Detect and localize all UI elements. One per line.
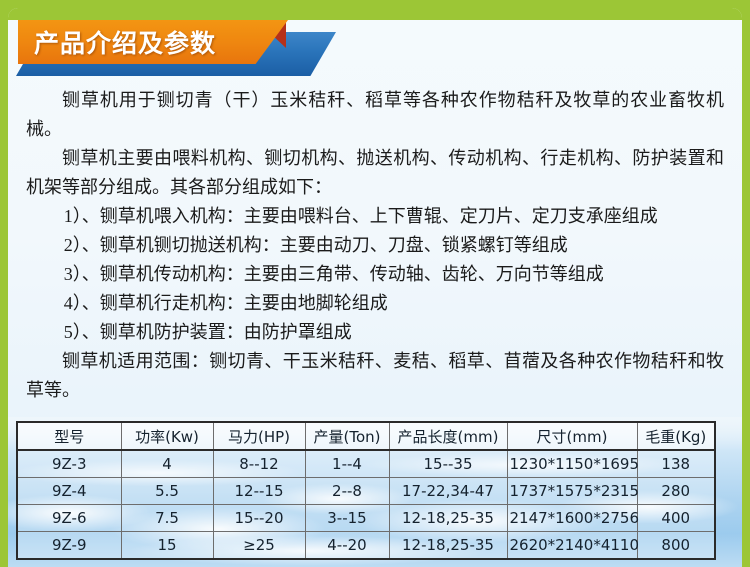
cell-product-length: 12-18,25-35: [389, 532, 507, 560]
cell-model: 9Z-6: [17, 505, 121, 532]
product-info-page: 产品介绍及参数 铡草机用于铡切青（干）玉米秸秆、稻草等各种农作物秸秆及牧草的农业…: [0, 0, 750, 567]
cell-product-length: 17-22,34-47: [389, 478, 507, 505]
cell-model: 9Z-3: [17, 450, 121, 478]
cell-model: 9Z-4: [17, 478, 121, 505]
component-list-item-1: 1）、铡草机喂入机构：主要由喂料台、上下曹辊、定刀片、定刀支承座组成: [26, 202, 724, 231]
table-row: 9Z-3 4 8--12 1--4 15--35 1230*1150*1695 …: [17, 450, 715, 478]
cell-gross-weight: 280: [637, 478, 715, 505]
cell-gross-weight: 138: [637, 450, 715, 478]
table-header-row: 型号 功率(Kw) 马力(HP) 产量(Ton) 产品长度(mm) 尺寸(mm)…: [17, 422, 715, 450]
description-paragraph-2: 铡草机主要由喂料机构、铡切机构、抛送机构、传动机构、行走机构、防护装置和机架等部…: [26, 144, 724, 202]
component-list-item-2: 2）、铡草机铡切抛送机构：主要由动刀、刀盘、锁紧螺钉等组成: [26, 231, 724, 260]
column-header-model: 型号: [17, 422, 121, 450]
cell-output: 4--20: [305, 532, 389, 560]
column-header-power-kw: 功率(Kw): [121, 422, 213, 450]
product-description: 铡草机用于铡切青（干）玉米秸秆、稻草等各种农作物秸秆及牧草的农业畜牧机械。 铡草…: [8, 74, 742, 405]
table-row: 9Z-6 7.5 15--20 3--15 12-18,25-35 2147*1…: [17, 505, 715, 532]
component-list-item-4: 4）、铡草机行走机构：主要由地脚轮组成: [26, 289, 724, 318]
cell-horsepower: 8--12: [213, 450, 305, 478]
column-header-dimensions: 尺寸(mm): [507, 422, 637, 450]
cell-product-length: 15--35: [389, 450, 507, 478]
component-list-item-3: 3）、铡草机传动机构：主要由三角带、传动轴、齿轮、万向节等组成: [26, 260, 724, 289]
cell-dimensions: 1230*1150*1695: [507, 450, 637, 478]
cell-horsepower: 15--20: [213, 505, 305, 532]
cell-output: 3--15: [305, 505, 389, 532]
cell-gross-weight: 800: [637, 532, 715, 560]
cell-power: 7.5: [121, 505, 213, 532]
component-list-item-5: 5）、铡草机防护装置：由防护罩组成: [26, 318, 724, 347]
description-paragraph-1: 铡草机用于铡切青（干）玉米秸秆、稻草等各种农作物秸秆及牧草的农业畜牧机械。: [26, 86, 724, 144]
cell-dimensions: 2620*2140*4110: [507, 532, 637, 560]
column-header-output-ton: 产量(Ton): [305, 422, 389, 450]
specification-table: 型号 功率(Kw) 马力(HP) 产量(Ton) 产品长度(mm) 尺寸(mm)…: [16, 421, 716, 560]
column-header-product-length: 产品长度(mm): [389, 422, 507, 450]
cell-output: 2--8: [305, 478, 389, 505]
cell-product-length: 12-18,25-35: [389, 505, 507, 532]
page-content: 产品介绍及参数 铡草机用于铡切青（干）玉米秸秆、稻草等各种农作物秸秆及牧草的农业…: [8, 8, 742, 567]
cell-power: 5.5: [121, 478, 213, 505]
green-page-frame: 产品介绍及参数 铡草机用于铡切青（干）玉米秸秆、稻草等各种农作物秸秆及牧草的农业…: [0, 0, 750, 567]
cell-output: 1--4: [305, 450, 389, 478]
cell-horsepower: ≥25: [213, 532, 305, 560]
cell-power: 4: [121, 450, 213, 478]
section-banner: 产品介绍及参数: [8, 8, 742, 74]
table-row: 9Z-9 15 ≥25 4--20 12-18,25-35 2620*2140*…: [17, 532, 715, 560]
column-header-horsepower: 马力(HP): [213, 422, 305, 450]
table-row: 9Z-4 5.5 12--15 2--8 17-22,34-47 1737*15…: [17, 478, 715, 505]
banner-green-strip: [8, 8, 742, 20]
section-title: 产品介绍及参数: [34, 24, 216, 60]
page-inner-surface: 产品介绍及参数 铡草机用于铡切青（干）玉米秸秆、稻草等各种农作物秸秆及牧草的农业…: [8, 8, 742, 567]
column-header-gross-weight: 毛重(Kg): [637, 422, 715, 450]
application-scope-paragraph: 铡草机适用范围：铡切青、干玉米秸秆、麦秸、稻草、苜蓿及各种农作物秸秆和牧草等。: [26, 347, 724, 405]
cell-dimensions: 2147*1600*2756: [507, 505, 637, 532]
spec-table-wrapper: 型号 功率(Kw) 马力(HP) 产量(Ton) 产品长度(mm) 尺寸(mm)…: [16, 421, 714, 560]
cell-horsepower: 12--15: [213, 478, 305, 505]
cell-model: 9Z-9: [17, 532, 121, 560]
cell-power: 15: [121, 532, 213, 560]
cell-dimensions: 1737*1575*2315: [507, 478, 637, 505]
cell-gross-weight: 400: [637, 505, 715, 532]
